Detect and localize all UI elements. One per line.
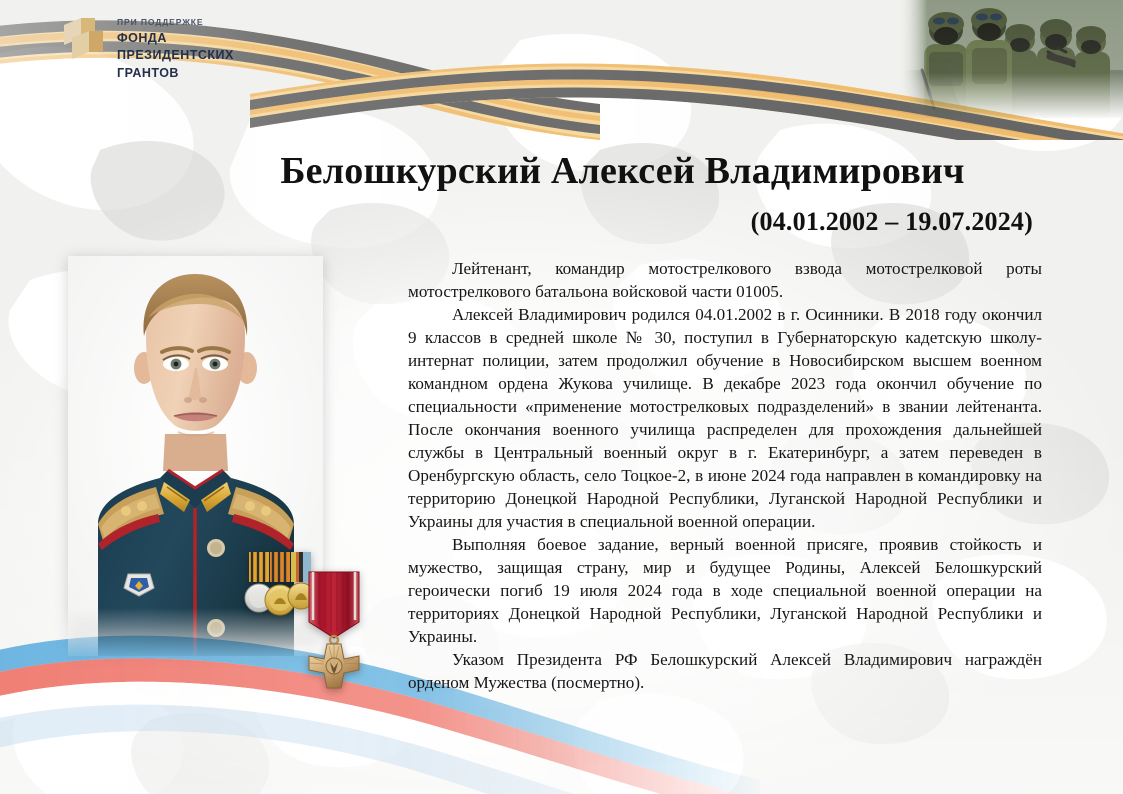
- life-dates: (04.01.2002 – 19.07.2024): [200, 207, 1045, 237]
- biography-text: Лейтенант, командир мотострелкового взво…: [408, 258, 1042, 695]
- soldiers-photo-icon: [898, 0, 1123, 118]
- biography-paragraph-1: Лейтенант, командир мотострелкового взво…: [408, 258, 1042, 304]
- title-block: Белошкурский Алексей Владимирович (04.01…: [200, 150, 1045, 237]
- biography-paragraph-2: Алексей Владимирович родился 04.01.2002 …: [408, 304, 1042, 534]
- presidential-grants-fund-logo: ПРИ ПОДДЕРЖКЕ ФОНДА ПРЕЗИДЕНТСКИХ ГРАНТО…: [62, 14, 234, 82]
- logo-line-2: ПРЕЗИДЕНТСКИХ: [117, 47, 234, 64]
- logo-line-1: ФОНДА: [117, 30, 234, 47]
- page-title: Белошкурский Алексей Владимирович: [200, 150, 1045, 193]
- biography-paragraph-4: Указом Президента РФ Белошкурский Алексе…: [408, 649, 1042, 695]
- logo-line-3: ГРАНТОВ: [117, 65, 234, 82]
- biography-paragraph-3: Выполняя боевое задание, верный военной …: [408, 534, 1042, 649]
- memorial-poster: ПРИ ПОДДЕРЖКЕ ФОНДА ПРЕЗИДЕНТСКИХ ГРАНТО…: [0, 0, 1123, 794]
- grant-fund-mark-icon: [62, 14, 106, 62]
- medals-and-order-of-courage-icon: [243, 548, 373, 703]
- logo-kicker-text: ПРИ ПОДДЕРЖКЕ: [117, 17, 234, 27]
